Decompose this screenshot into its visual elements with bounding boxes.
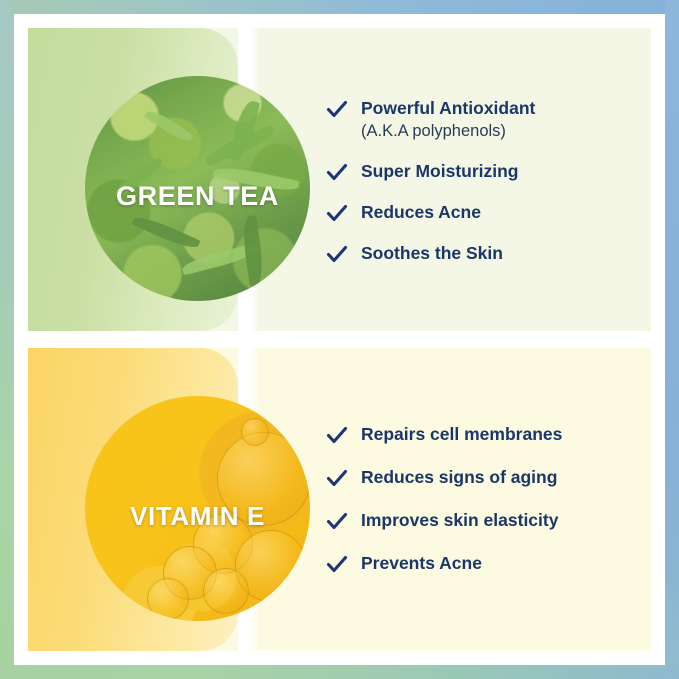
vitamin-e-image-circle: VITAMIN E xyxy=(85,396,310,621)
check-icon xyxy=(326,468,348,490)
benefit-item: Improves skin elasticity xyxy=(326,509,646,533)
card-green-tea: GREEN TEA Powerful Antioxidant (A.K.A po… xyxy=(28,28,651,331)
infographic-root: GREEN TEA Powerful Antioxidant (A.K.A po… xyxy=(0,0,679,679)
benefit-item: Super Moisturizing xyxy=(326,160,646,184)
white-page: GREEN TEA Powerful Antioxidant (A.K.A po… xyxy=(14,14,665,665)
border-right xyxy=(665,0,679,679)
border-bottom xyxy=(0,665,679,679)
check-icon xyxy=(326,244,348,266)
benefit-text: Prevents Acne xyxy=(361,552,482,575)
benefit-text: Improves skin elasticity xyxy=(361,509,558,532)
vitamin-e-benefit-list: Repairs cell membranes Reduces signs of … xyxy=(326,348,646,651)
benefit-item: Reduces Acne xyxy=(326,201,646,225)
benefit-item: Powerful Antioxidant (A.K.A polyphenols) xyxy=(326,97,646,142)
check-icon xyxy=(326,554,348,576)
benefit-text: Soothes the Skin xyxy=(361,242,503,265)
card-vitamin-e: VITAMIN E Repairs cell membranes Reduces… xyxy=(28,348,651,651)
green-tea-label: GREEN TEA xyxy=(85,181,310,212)
check-icon xyxy=(326,425,348,447)
benefit-item: Prevents Acne xyxy=(326,552,646,576)
border-left xyxy=(0,0,14,679)
benefit-main: Powerful Antioxidant xyxy=(361,98,535,118)
benefit-text: Super Moisturizing xyxy=(361,160,519,183)
benefit-item: Repairs cell membranes xyxy=(326,423,646,447)
green-tea-image-circle: GREEN TEA xyxy=(85,76,310,301)
check-icon xyxy=(326,99,348,121)
border-top xyxy=(0,0,679,14)
benefit-text: Repairs cell membranes xyxy=(361,423,562,446)
check-icon xyxy=(326,162,348,184)
benefit-text: Powerful Antioxidant (A.K.A polyphenols) xyxy=(361,97,535,142)
benefit-item: Reduces signs of aging xyxy=(326,466,646,490)
benefit-text: Reduces signs of aging xyxy=(361,466,557,489)
check-icon xyxy=(326,203,348,225)
green-tea-benefit-list: Powerful Antioxidant (A.K.A polyphenols)… xyxy=(326,28,646,331)
benefit-text: Reduces Acne xyxy=(361,201,481,224)
benefit-item: Soothes the Skin xyxy=(326,242,646,266)
benefit-sub: (A.K.A polyphenols) xyxy=(361,121,535,143)
check-icon xyxy=(326,511,348,533)
vitamin-e-label: VITAMIN E xyxy=(85,501,310,532)
